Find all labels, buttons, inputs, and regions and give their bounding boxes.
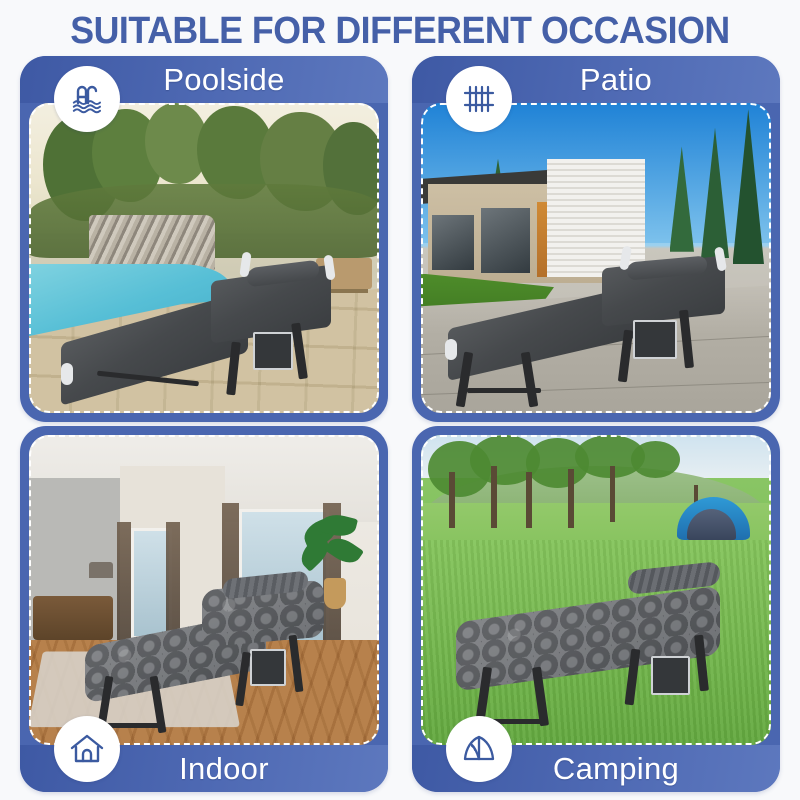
panel-camping[interactable]: Camping bbox=[412, 426, 780, 792]
house-icon bbox=[54, 716, 120, 782]
panel-label-poolside: Poolside bbox=[123, 64, 284, 95]
scene-indoor bbox=[29, 435, 379, 745]
panel-label-patio: Patio bbox=[540, 64, 652, 95]
panel-indoor[interactable]: Indoor bbox=[20, 426, 388, 792]
panel-photo-patio bbox=[421, 103, 771, 413]
infographic-page: SUITABLE FOR DIFFERENT OCCASION Poolside bbox=[0, 0, 800, 800]
fence-icon bbox=[446, 66, 512, 132]
panel-poolside[interactable]: Poolside bbox=[20, 56, 388, 422]
scene-patio bbox=[421, 103, 771, 413]
panel-label-indoor: Indoor bbox=[139, 753, 269, 784]
occasion-panel-grid: Poolside bbox=[20, 56, 780, 792]
page-title: SUITABLE FOR DIFFERENT OCCASION bbox=[24, 8, 776, 54]
tent-icon bbox=[446, 716, 512, 782]
pool-ladder-icon bbox=[54, 66, 120, 132]
panel-photo-poolside bbox=[29, 103, 379, 413]
panel-photo-camping bbox=[421, 435, 771, 745]
scene-camping bbox=[421, 435, 771, 745]
panel-label-camping: Camping bbox=[513, 753, 679, 784]
scene-poolside bbox=[29, 103, 379, 413]
panel-photo-indoor bbox=[29, 435, 379, 745]
panel-patio[interactable]: Patio bbox=[412, 56, 780, 422]
